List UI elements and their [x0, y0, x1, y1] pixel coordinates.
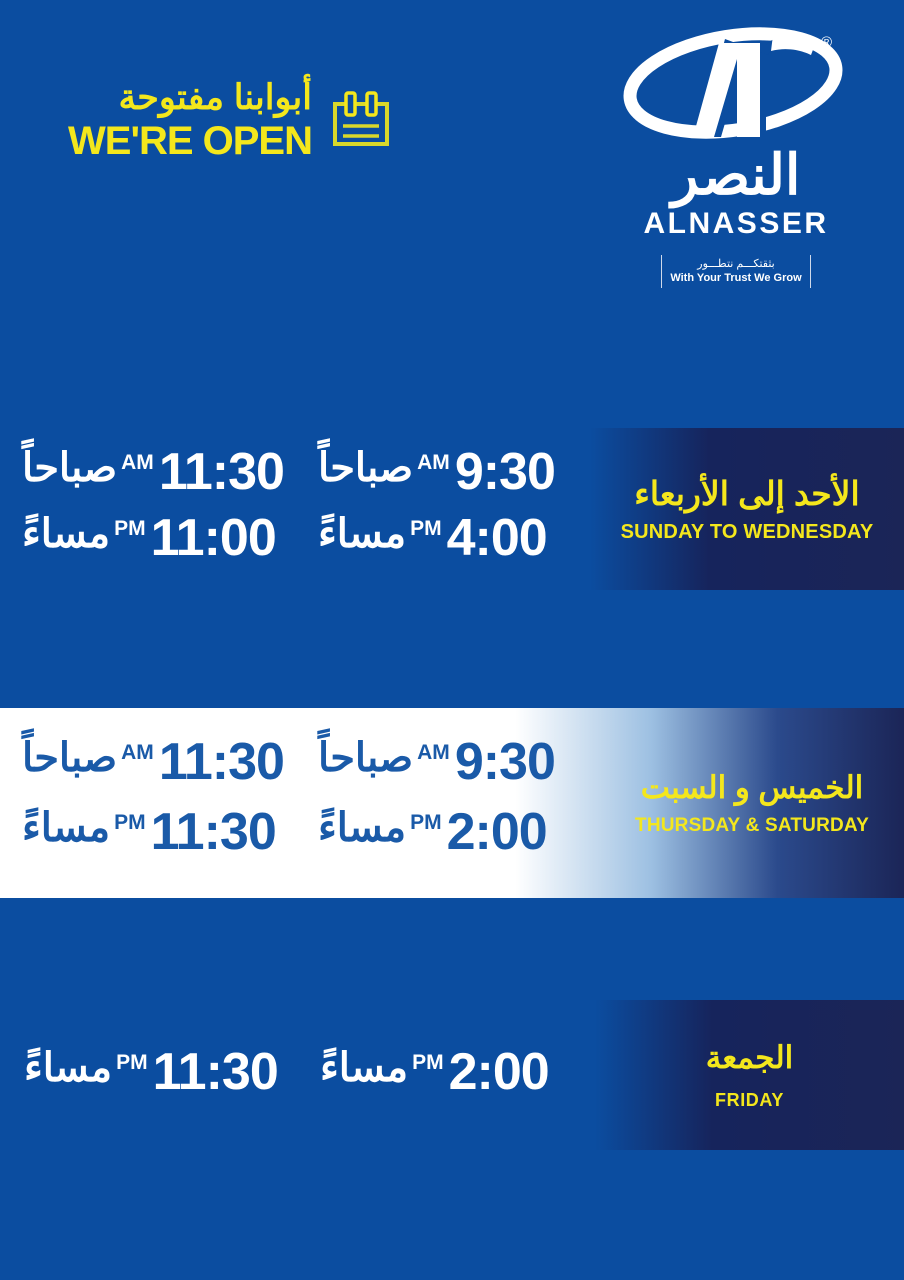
- schedule-row-friday: 2:00 PM مساءً 11:30 PM مساءً الجمعة FRID…: [0, 1000, 904, 1150]
- meridiem-word-arabic: صباحاً: [318, 448, 413, 488]
- close-time-morning: 11:30 AM صباحاً: [22, 448, 284, 498]
- day-label-panel: الجمعة FRIDAY: [595, 1000, 904, 1150]
- time-value: 11:30: [153, 1048, 278, 1098]
- time-value: 4:00: [447, 514, 547, 564]
- meridiem-word-arabic: مساءً: [22, 808, 110, 848]
- meridiem-label: AM: [121, 452, 154, 473]
- meridiem-word-arabic: مساءً: [320, 1048, 408, 1088]
- were-open-headline-arabic: أبوابنا مفتوحة: [62, 78, 312, 118]
- day-label-english: THURSDAY & SATURDAY: [635, 815, 869, 837]
- meridiem-label: PM: [114, 518, 146, 539]
- schedule-times: 9:30 AM صباحاً 2:00 PM مساءً 11:30 AM صب…: [0, 708, 600, 898]
- open-time-evening: 4:00 PM مساءً: [318, 514, 547, 564]
- meridiem-label: PM: [114, 812, 146, 833]
- meridiem-word-arabic: صباحاً: [22, 448, 117, 488]
- meridiem-word-arabic: مساءً: [24, 1048, 112, 1088]
- day-label-english: FRIDAY: [715, 1090, 784, 1111]
- meridiem-label: PM: [116, 1052, 148, 1073]
- were-open-banner: أبوابنا مفتوحة WE'RE OPEN: [62, 78, 402, 198]
- close-time-evening: 11:30 PM مساءً: [24, 1048, 278, 1098]
- meridiem-label: AM: [121, 742, 154, 763]
- schedule-times: 2:00 PM مساءً 11:30 PM مساءً: [0, 1000, 590, 1150]
- logo-swoosh-mark: ®: [621, 25, 851, 145]
- schedule-times: 9:30 AM صباحاً 4:00 PM مساءً 11:30 AM صب…: [0, 428, 590, 590]
- time-value: 11:30: [159, 448, 284, 498]
- close-time-evening: 11:00 PM مساءً: [22, 514, 276, 564]
- time-value: 2:00: [449, 1048, 549, 1098]
- time-value: 9:30: [455, 448, 555, 498]
- day-label-panel: الأحد إلى الأربعاء SUNDAY TO WEDNESDAY: [590, 428, 904, 590]
- meridiem-label: PM: [412, 1052, 444, 1073]
- time-value: 11:00: [151, 514, 276, 564]
- schedule-row-thursday-and-saturday: 9:30 AM صباحاً 2:00 PM مساءً 11:30 AM صب…: [0, 708, 904, 898]
- day-label-arabic: الأحد إلى الأربعاء: [634, 474, 859, 513]
- meridiem-label: AM: [417, 452, 450, 473]
- time-value: 9:30: [455, 738, 555, 788]
- meridiem-word-arabic: صباحاً: [22, 738, 117, 778]
- day-label-arabic: الخميس و السبت: [641, 770, 864, 806]
- meridiem-label: PM: [410, 518, 442, 539]
- open-time-morning: 9:30 AM صباحاً: [318, 448, 555, 498]
- meridiem-word-arabic: مساءً: [318, 514, 406, 554]
- time-value: 11:30: [159, 738, 284, 788]
- close-time-morning: 11:30 AM صباحاً: [22, 738, 284, 788]
- meridiem-word-arabic: صباحاً: [318, 738, 413, 778]
- meridiem-label: PM: [410, 812, 442, 833]
- were-open-text: أبوابنا مفتوحة WE'RE OPEN: [62, 78, 312, 162]
- time-value: 11:30: [151, 808, 276, 858]
- brand-tagline: بثقتكـــم نتطـــور With Your Trust We Gr…: [661, 255, 811, 288]
- calendar-icon: [330, 88, 392, 155]
- brand-name-english: ALNASSER: [616, 207, 856, 241]
- brand-name-arabic: النصر: [616, 147, 856, 203]
- meridiem-label: AM: [417, 742, 450, 763]
- schedule-row-sunday-to-wednesday: 9:30 AM صباحاً 4:00 PM مساءً 11:30 AM صب…: [0, 428, 904, 590]
- day-label-english: SUNDAY TO WEDNESDAY: [621, 521, 874, 544]
- open-time-evening: 2:00 PM مساءً: [320, 1048, 549, 1098]
- open-time-evening: 2:00 PM مساءً: [318, 808, 547, 858]
- meridiem-word-arabic: مساءً: [22, 514, 110, 554]
- close-time-evening: 11:30 PM مساءً: [22, 808, 276, 858]
- time-value: 2:00: [447, 808, 547, 858]
- meridiem-word-arabic: مساءً: [318, 808, 406, 848]
- day-label-panel: الخميس و السبت THURSDAY & SATURDAY: [600, 708, 904, 898]
- alnasser-logo: ® النصر ALNASSER بثقتكـــم نتطـــور With…: [616, 25, 856, 288]
- poster-header: أبوابنا مفتوحة WE'RE OPEN ® النصر ALN: [0, 0, 904, 400]
- tagline-english: With Your Trust We Grow: [668, 271, 804, 285]
- open-time-morning: 9:30 AM صباحاً: [318, 738, 555, 788]
- tagline-arabic: بثقتكـــم نتطـــور: [668, 257, 804, 271]
- registered-mark: ®: [821, 34, 832, 51]
- were-open-headline-english: WE'RE OPEN: [62, 120, 312, 162]
- day-label-arabic: الجمعة: [706, 1040, 794, 1076]
